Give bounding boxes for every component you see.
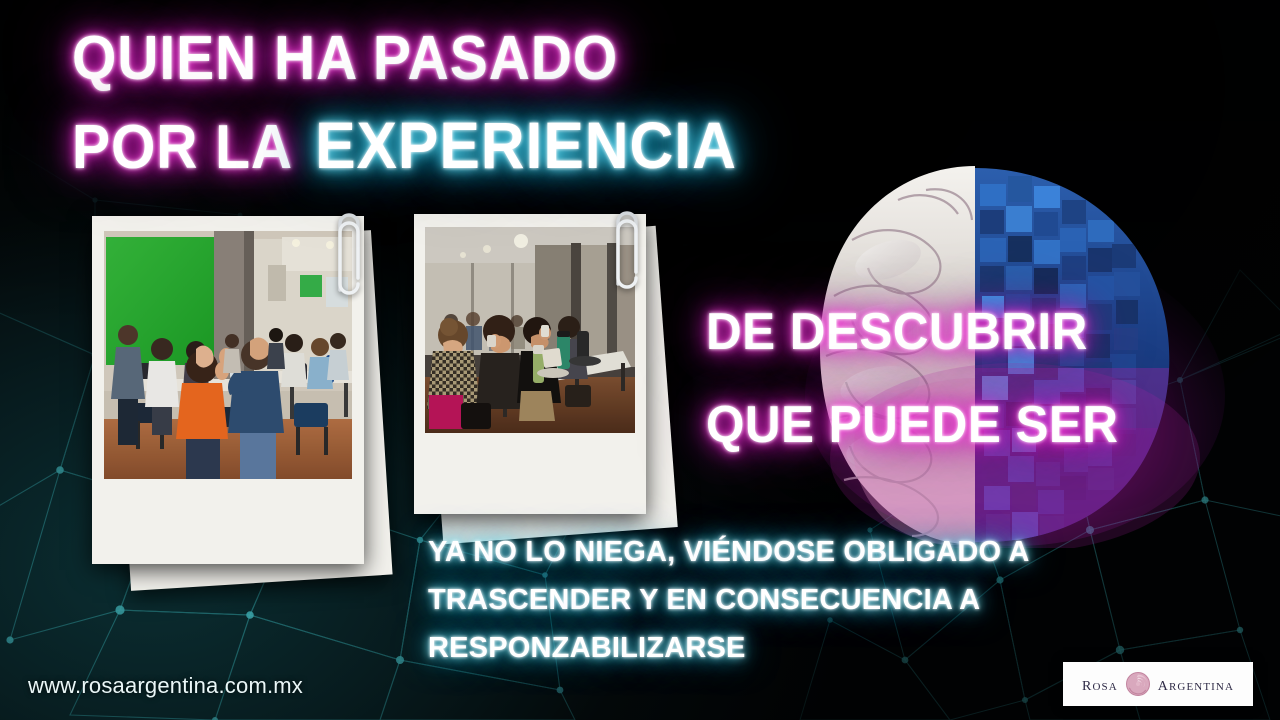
paperclip-icon	[332, 202, 366, 298]
headline-line-1: QUIEN HA PASADO	[72, 16, 737, 102]
brand-logo[interactable]: ROSA ARGENTINA	[1063, 662, 1253, 706]
headline-block: QUIEN HA PASADO POR LA EXPERIENCIA	[72, 16, 795, 191]
logo-word-rosa: ROSA	[1082, 673, 1118, 696]
rose-icon	[1125, 671, 1151, 697]
right-heading-line-2: QUE PUEDE SER	[706, 379, 1118, 472]
headline-emphasis-experiencia: EXPERIENCIA	[315, 102, 737, 188]
photo-2-alt: Seminar attendees seated at tables takin…	[414, 214, 415, 215]
website-url[interactable]: www.rosaargentina.com.mx	[28, 673, 303, 699]
body-copy-block: YA NO LO NIEGA, VIÉNDOSE OBLIGADO A TRAS…	[428, 528, 1218, 672]
polaroid-photo-2[interactable]: Seminar attendees seated at tables takin…	[414, 214, 646, 514]
body-copy-line-2: TRASCENDER Y EN CONSECUENCIA A	[428, 576, 1218, 624]
body-copy-line-1: YA NO LO NIEGA, VIÉNDOSE OBLIGADO A	[428, 528, 1218, 576]
right-heading-line-1: DE DESCUBRIR	[706, 286, 1118, 379]
headline-line-2: POR LA EXPERIENCIA	[72, 102, 737, 191]
photo-seminar-seated	[425, 227, 635, 433]
right-heading-block: DE DESCUBRIR QUE PUEDE SER	[706, 286, 1140, 472]
headline-line-2-prefix: POR LA	[72, 105, 293, 191]
promo-slide: Workshop participants standing around ta…	[0, 0, 1280, 720]
paperclip-icon	[610, 200, 644, 292]
photo-1-alt: Workshop participants standing around ta…	[92, 216, 93, 217]
photo-workshop-greenscreen	[104, 231, 352, 479]
polaroid-photo-1[interactable]: Workshop participants standing around ta…	[92, 216, 364, 564]
logo-word-argentina: ARGENTINA	[1158, 673, 1234, 696]
